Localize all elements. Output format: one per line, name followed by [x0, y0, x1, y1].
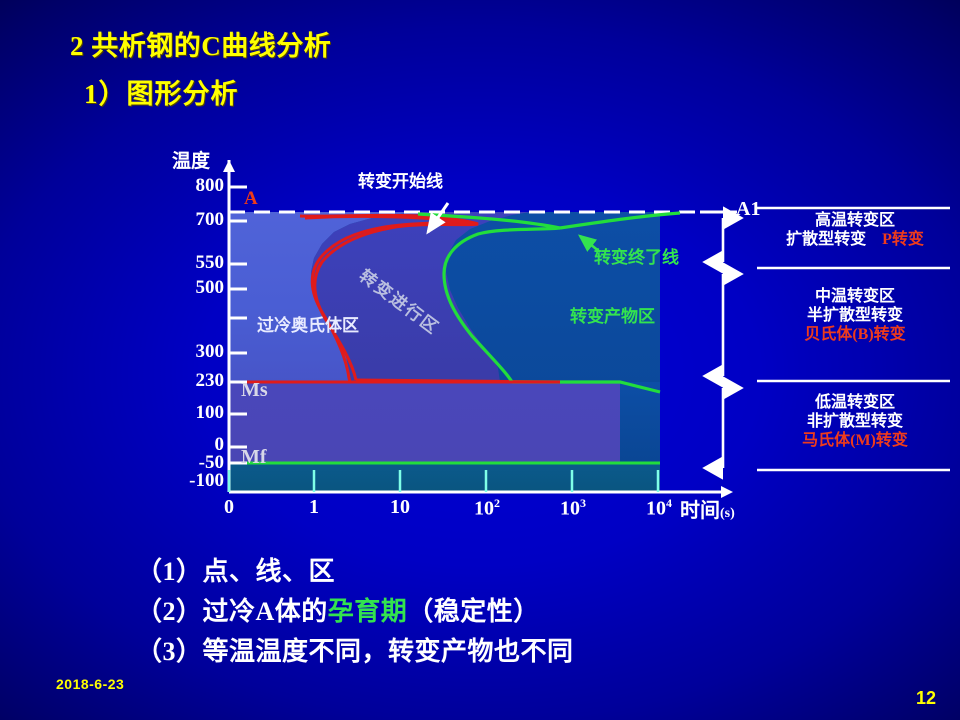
zone-high-temp-row: 扩散型转变 P转变 — [760, 231, 950, 250]
y-tick-700: 700 — [160, 209, 224, 231]
region-product-right — [620, 382, 660, 463]
bullet-2-highlight: 孕育期 — [328, 597, 408, 626]
zone-mid-temp-line3: 贝氏体(B)转变 — [760, 326, 950, 345]
bullet-1: （1）点、线、区 — [136, 551, 335, 588]
label-mf: Mf — [241, 446, 267, 469]
slide-root: 2 共析钢的C曲线分析 1）图形分析 — [0, 0, 960, 720]
footer-date: 2018-6-23 — [56, 676, 124, 692]
bullet-2-post: （稳定性） — [407, 597, 540, 626]
footer-page-number: 12 — [916, 688, 936, 709]
label-transformation-end-line: 转变终了线 — [594, 243, 679, 268]
zone-mid-temp-title: 中温转变区 — [760, 288, 950, 307]
x-tick-10: 10 — [375, 496, 425, 519]
region-martensite-band — [229, 382, 620, 463]
x-tick-0-base: 0 — [224, 496, 234, 518]
label-supercooled-austenite-region: 过冷奥氏体区 — [257, 311, 359, 336]
x-tick-1e3-base: 10 — [560, 498, 580, 520]
zone-low-temp: 低温转变区 非扩散型转变 马氏体(M)转变 — [760, 394, 950, 451]
x-tick-1e4: 104 — [631, 496, 687, 521]
x-axis-unit: (s) — [720, 506, 735, 521]
y-axis-arrow — [223, 160, 235, 172]
bullet-3: （3）等温温度不同，转变产物也不同 — [136, 631, 574, 668]
x-tick-10-base: 10 — [390, 496, 410, 518]
region-below-mf-fill — [229, 463, 660, 492]
y-tick-800: 800 — [160, 175, 224, 197]
zone-low-temp-title: 低温转变区 — [760, 394, 950, 413]
x-tick-1e3: 103 — [545, 496, 601, 521]
zone-high-temp-line3: P转变 — [882, 231, 924, 250]
zone-high-temp-title: 高温转变区 — [760, 212, 950, 231]
x-tick-1e2-base: 10 — [474, 498, 494, 520]
zone-high-temp-line2: 扩散型转变 — [786, 231, 866, 250]
zone-mid-temp: 中温转变区 半扩散型转变 贝氏体(B)转变 — [760, 288, 950, 345]
zone-mid-temp-line2: 半扩散型转变 — [760, 307, 950, 326]
zone-low-temp-line2: 非扩散型转变 — [760, 413, 950, 432]
x-tick-0: 0 — [204, 496, 254, 519]
x-tick-1e3-exp: 3 — [580, 496, 586, 510]
bullet-2-pre: （2）过冷A体的 — [136, 597, 328, 626]
x-tick-1e2-exp: 2 — [494, 496, 500, 510]
bullet-2: （2）过冷A体的孕育期（稳定性） — [136, 591, 540, 628]
x-tick-1e4-exp: 4 — [666, 496, 672, 510]
x-tick-1e2: 102 — [459, 496, 515, 521]
y-tick-500: 500 — [160, 277, 224, 299]
x-tick-1-base: 1 — [309, 496, 319, 518]
label-ms: Ms — [241, 379, 268, 402]
y-tick-300: 300 — [160, 341, 224, 363]
y-tick-230: 230 — [160, 370, 224, 392]
y-tick-550: 550 — [160, 252, 224, 274]
y-tick-100: 100 — [160, 402, 224, 424]
ttt-curve-chart: 温度 时间(s) 800 700 550 500 300 230 100 0 -… — [0, 0, 960, 560]
label-austenite-A: A — [244, 188, 258, 210]
zone-low-temp-line3: 马氏体(M)转变 — [760, 432, 950, 451]
x-axis-title: 时间(s) — [680, 494, 735, 523]
label-transformation-start-line: 转变开始线 — [358, 167, 443, 192]
bullet-1-text: （1）点、线、区 — [136, 557, 335, 586]
label-a1: A1 — [736, 198, 760, 221]
x-tick-1e4-base: 10 — [646, 498, 666, 520]
bullet-3-text: （3）等温温度不同，转变产物也不同 — [136, 637, 574, 666]
chart-svg — [0, 0, 960, 560]
y-axis-title: 温度 — [172, 146, 210, 173]
label-product-region: 转变产物区 — [570, 302, 655, 327]
x-tick-1: 1 — [289, 496, 339, 519]
y-tick-minus100: -100 — [152, 470, 224, 492]
zone-high-temp: 高温转变区 扩散型转变 P转变 — [760, 212, 950, 250]
